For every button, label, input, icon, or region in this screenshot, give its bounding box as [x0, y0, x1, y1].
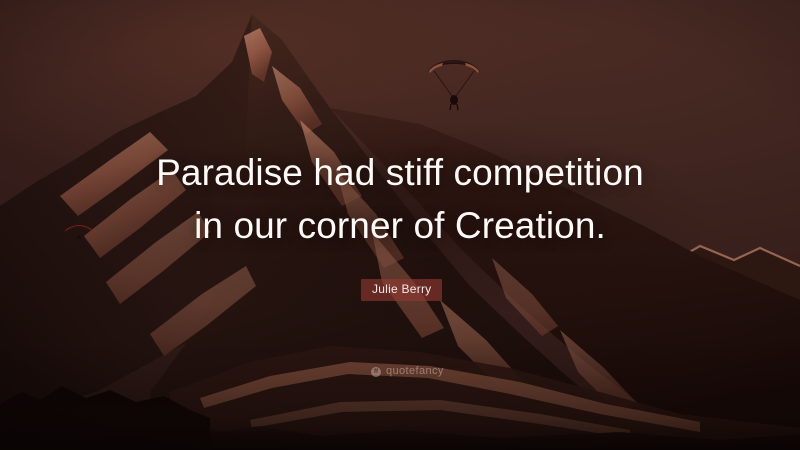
quote-text-block: Paradise had stiff competition in our co…	[0, 146, 800, 252]
quotefancy-watermark-label: quotefancy	[386, 366, 444, 377]
quote-line-2: in our corner of Creation.	[0, 199, 800, 252]
author-badge[interactable]: Julie Berry	[361, 279, 442, 301]
quote-poster: Paradise had stiff competition in our co…	[0, 0, 800, 450]
quotefancy-watermark[interactable]: ff quotefancy	[371, 366, 444, 377]
paraglider-icon	[424, 52, 484, 114]
quote-line-1: Paradise had stiff competition	[0, 146, 800, 199]
quotefancy-logo-icon: ff	[371, 367, 381, 377]
